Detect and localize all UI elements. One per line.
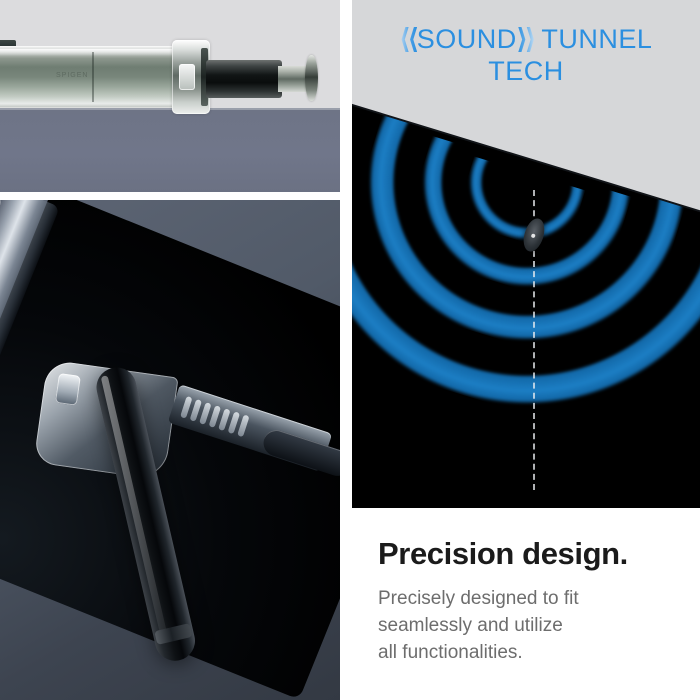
case-lip-notch <box>179 64 195 90</box>
case-pen-slot-lip <box>172 40 210 114</box>
grille-slot <box>237 414 250 437</box>
sound-tunnel-heading: ⟨⟨SOUND⟩⟩ TUNNEL TECH <box>352 24 700 88</box>
barrel-seam <box>92 52 94 102</box>
sound-wave-arcs <box>352 104 700 508</box>
copy-title: Precision design. <box>378 536 628 572</box>
panel-sound-tunnel: ⟨⟨SOUND⟩⟩ TUNNEL TECH <box>352 0 700 508</box>
spigen-brand-text: spigen <box>0 200 10 279</box>
macro-floor-surface <box>0 108 340 192</box>
s-pen-shaft <box>206 60 282 98</box>
copy-body-line-3: all functionalities. <box>378 640 686 667</box>
heading-line-2: TECH <box>352 56 700 88</box>
case-engraving-text: SPIGEN <box>56 72 88 79</box>
copy-body-line-2: seamlessly and utilize <box>378 613 686 640</box>
panel-precision-copy: Precision design. Precisely designed to … <box>352 508 700 700</box>
product-feature-collage: SPIGEN spigen <box>0 0 700 700</box>
wave-mark-right-icon: ⟩⟩ <box>517 24 534 56</box>
wave-mark-left-icon: ⟨⟨ <box>400 24 417 56</box>
panel-pen-corner: spigen <box>0 200 340 700</box>
heading-line-1: ⟨⟨SOUND⟩⟩ TUNNEL <box>352 24 700 56</box>
copy-body-line-1: Precisely designed to fit <box>378 586 686 613</box>
phone-screen-black <box>352 104 700 508</box>
copy-body: Precisely designed to fit seamlessly and… <box>378 586 686 667</box>
case-button-cutout <box>55 373 81 406</box>
panel-pen-macro: SPIGEN <box>0 0 340 192</box>
s-pen-end-button <box>305 55 318 101</box>
heading-word-sound: SOUND <box>417 24 517 54</box>
heading-word-tunnel: TUNNEL <box>534 24 653 54</box>
